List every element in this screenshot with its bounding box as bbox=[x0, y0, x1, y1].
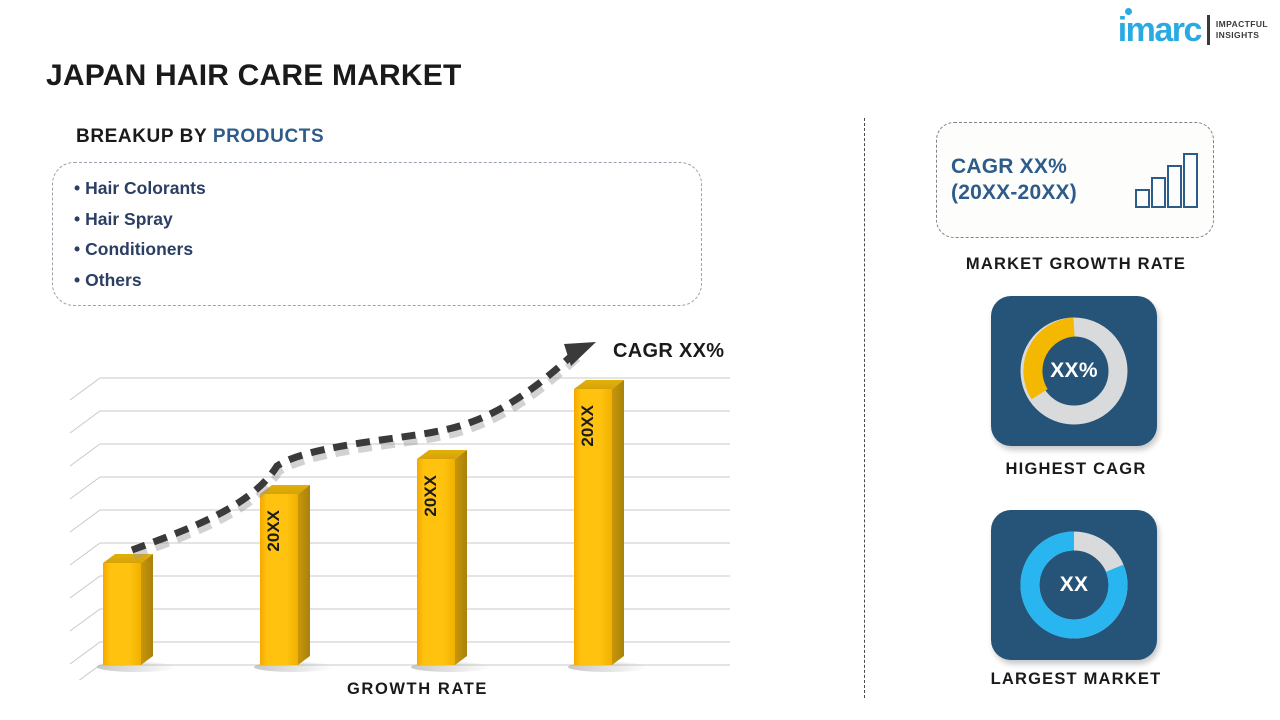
bar-2: 20XX bbox=[260, 485, 310, 665]
products-list: •Hair Colorants •Hair Spray •Conditioner… bbox=[74, 173, 206, 295]
bullet-icon: • bbox=[74, 239, 80, 259]
bar-3: 20XX bbox=[417, 450, 467, 665]
list-item-label: Hair Spray bbox=[85, 209, 173, 229]
slide-canvas: imarc IMPACTFUL INSIGHTS JAPAN HAIR CARE… bbox=[0, 0, 1280, 720]
section-subtitle: BREAKUP BY PRODUCTS bbox=[76, 126, 324, 148]
list-item-label: Others bbox=[85, 270, 141, 290]
bar-label: 20XX bbox=[421, 474, 440, 516]
growth-rate-line2: (20XX-20XX) bbox=[951, 180, 1135, 206]
list-item: •Conditioners bbox=[74, 234, 206, 265]
list-item: •Others bbox=[74, 265, 206, 296]
bullet-icon: • bbox=[74, 270, 80, 290]
largest-market-value: XX bbox=[1060, 573, 1089, 597]
subtitle-highlight: PRODUCTS bbox=[213, 126, 324, 147]
chart-axis-label: GROWTH RATE bbox=[347, 680, 488, 699]
highest-cagr-value: XX% bbox=[1050, 359, 1098, 383]
market-growth-rate-box: CAGR XX% (20XX-20XX) bbox=[936, 122, 1214, 238]
page-title: JAPAN HAIR CARE MARKET bbox=[46, 59, 462, 93]
list-item-label: Conditioners bbox=[85, 239, 193, 259]
bullet-icon: • bbox=[74, 209, 80, 229]
growth-bar-chart: 20XX 20XX 20XX bbox=[62, 330, 742, 680]
growth-rate-line1: CAGR XX% bbox=[951, 154, 1135, 180]
growth-rate-text: CAGR XX% (20XX-20XX) bbox=[951, 154, 1135, 207]
vertical-divider bbox=[864, 118, 865, 698]
list-item: •Hair Spray bbox=[74, 204, 206, 235]
chart-gridlines bbox=[70, 378, 730, 680]
logo-tagline-line1: IMPACTFUL bbox=[1216, 19, 1268, 30]
logo-word-text: imarc bbox=[1118, 11, 1201, 49]
highest-cagr-card: XX% bbox=[991, 296, 1157, 446]
logo-divider bbox=[1207, 15, 1210, 45]
largest-market-card: XX bbox=[991, 510, 1157, 660]
cagr-annotation: CAGR XX% bbox=[613, 340, 724, 363]
trend-arrow-icon bbox=[132, 342, 596, 556]
subtitle-prefix: BREAKUP BY bbox=[76, 126, 213, 147]
list-item-label: Hair Colorants bbox=[85, 178, 206, 198]
largest-market-caption: LARGEST MARKET bbox=[936, 670, 1216, 689]
market-growth-rate-caption: MARKET GROWTH RATE bbox=[936, 255, 1216, 274]
chart-svg: 20XX 20XX 20XX bbox=[62, 330, 742, 680]
bar-4: 20XX bbox=[574, 380, 624, 665]
bar-shadows bbox=[97, 662, 648, 672]
bullet-icon: • bbox=[74, 178, 80, 198]
highest-cagr-caption: HIGHEST CAGR bbox=[936, 460, 1216, 479]
logo-dot-icon bbox=[1125, 8, 1132, 15]
imarc-logo: imarc IMPACTFUL INSIGHTS bbox=[1118, 10, 1268, 50]
logo-tagline-line2: INSIGHTS bbox=[1216, 30, 1268, 41]
logo-tagline: IMPACTFUL INSIGHTS bbox=[1216, 19, 1268, 42]
bar-1 bbox=[103, 554, 153, 665]
bar-label: 20XX bbox=[578, 404, 597, 446]
logo-wordmark: imarc bbox=[1118, 13, 1205, 47]
list-item: •Hair Colorants bbox=[74, 173, 206, 204]
bar-chart-icon bbox=[1135, 152, 1199, 208]
bar-label: 20XX bbox=[264, 509, 283, 551]
